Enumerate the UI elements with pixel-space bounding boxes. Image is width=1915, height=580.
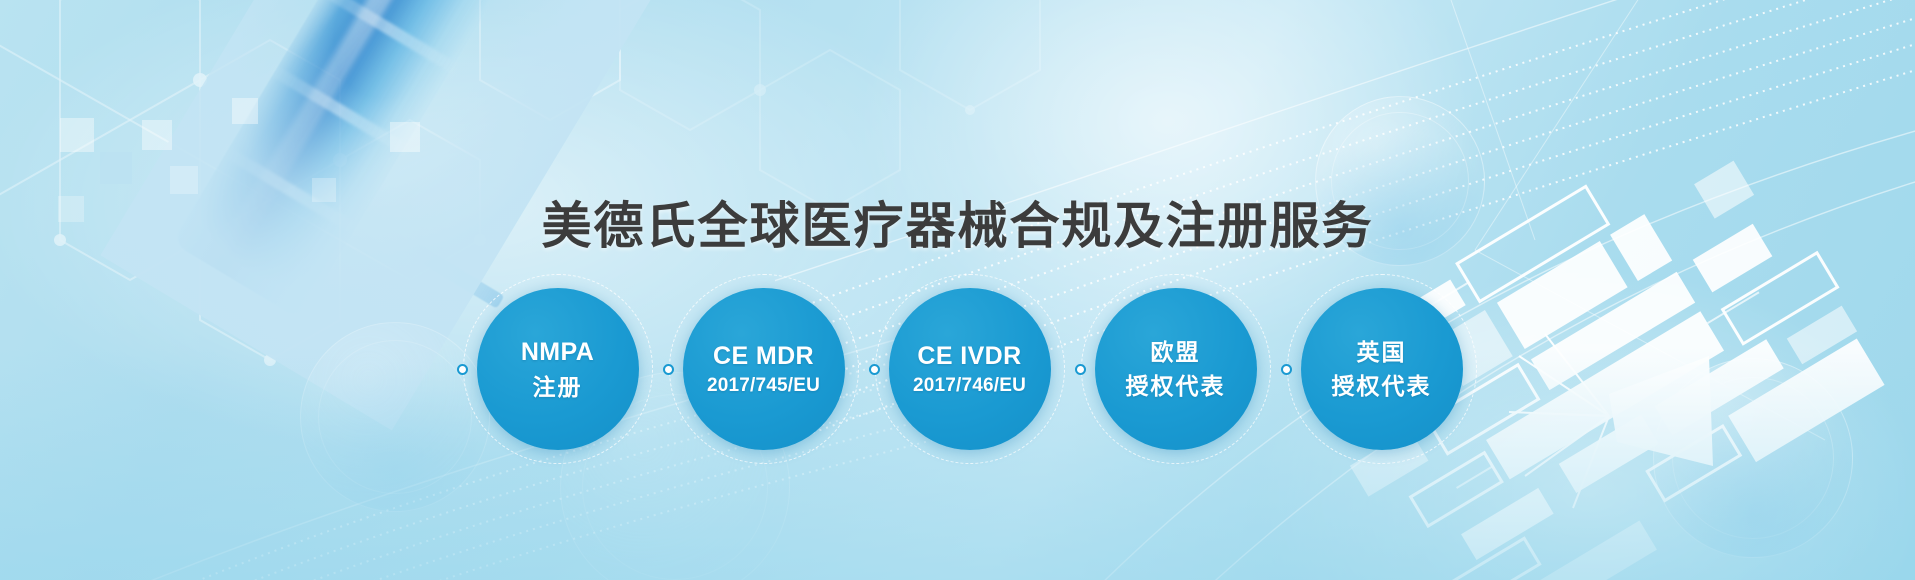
badge-title: NMPA <box>521 337 594 368</box>
deco-square <box>232 98 258 124</box>
badge-subtitle: 2017/746/EU <box>913 374 1026 397</box>
badge-text: NMPA 注册 <box>521 337 594 401</box>
badge-connector-dot-icon <box>663 364 674 375</box>
badge-uk-authorized-rep[interactable]: 英国 授权代表 <box>1301 288 1463 450</box>
badge-text: 欧盟 授权代表 <box>1126 338 1226 399</box>
badge-connector-dot-icon <box>1075 364 1086 375</box>
badge-subtitle: 授权代表 <box>1332 372 1432 400</box>
page-title: 美德氏全球医疗器械合规及注册服务 <box>0 186 1915 258</box>
badge-subtitle: 2017/745/EU <box>707 374 820 397</box>
badge-eu-authorized-rep[interactable]: 欧盟 授权代表 <box>1095 288 1257 450</box>
badge-title: CE IVDR <box>913 341 1026 372</box>
badge-subtitle: 注册 <box>521 373 594 401</box>
badge-text: CE IVDR 2017/746/EU <box>913 341 1026 398</box>
banner-hero: 美德氏全球医疗器械合规及注册服务 NMPA 注册 CE MDR 2017/745… <box>0 0 1915 580</box>
deco-square <box>390 122 420 152</box>
badge-ce-mdr[interactable]: CE MDR 2017/745/EU <box>683 288 845 450</box>
badge-connector-dot-icon <box>457 364 468 375</box>
syringe-vial-graphic <box>172 0 522 320</box>
badge-title: 欧盟 <box>1126 338 1226 366</box>
badge-text: CE MDR 2017/745/EU <box>707 341 820 398</box>
badge-subtitle: 授权代表 <box>1126 372 1226 400</box>
badge-text: 英国 授权代表 <box>1332 338 1432 399</box>
badge-title: 英国 <box>1332 338 1432 366</box>
badge-connector-dot-icon <box>1281 364 1292 375</box>
deco-square <box>100 152 132 184</box>
badge-ce-ivdr[interactable]: CE IVDR 2017/746/EU <box>889 288 1051 450</box>
badge-nmpa[interactable]: NMPA 注册 <box>477 288 639 450</box>
certification-badge-row: NMPA 注册 CE MDR 2017/745/EU CE IVDR 2017/… <box>0 288 1915 450</box>
badge-connector-dot-icon <box>869 364 880 375</box>
deco-square <box>60 118 94 152</box>
deco-square <box>142 120 172 150</box>
badge-title: CE MDR <box>707 341 820 372</box>
